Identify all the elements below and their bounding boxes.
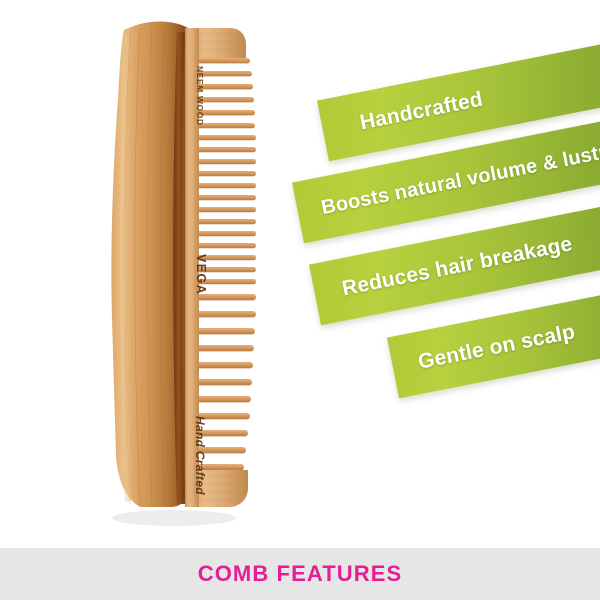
- feature-banner-label: Reduces hair breakage: [313, 232, 575, 306]
- product-feature-infographic: NEEM WOOD VEGA Hand Crafted Handcrafted …: [0, 0, 600, 600]
- feature-banner-label: Gentle on scalp: [391, 320, 578, 380]
- feature-banner-list: Handcrafted Boosts natural volume & lust…: [0, 0, 600, 548]
- footer-title: COMB FEATURES: [198, 561, 403, 587]
- feature-banner-label: Handcrafted: [321, 88, 485, 143]
- footer-bar: COMB FEATURES: [0, 548, 600, 600]
